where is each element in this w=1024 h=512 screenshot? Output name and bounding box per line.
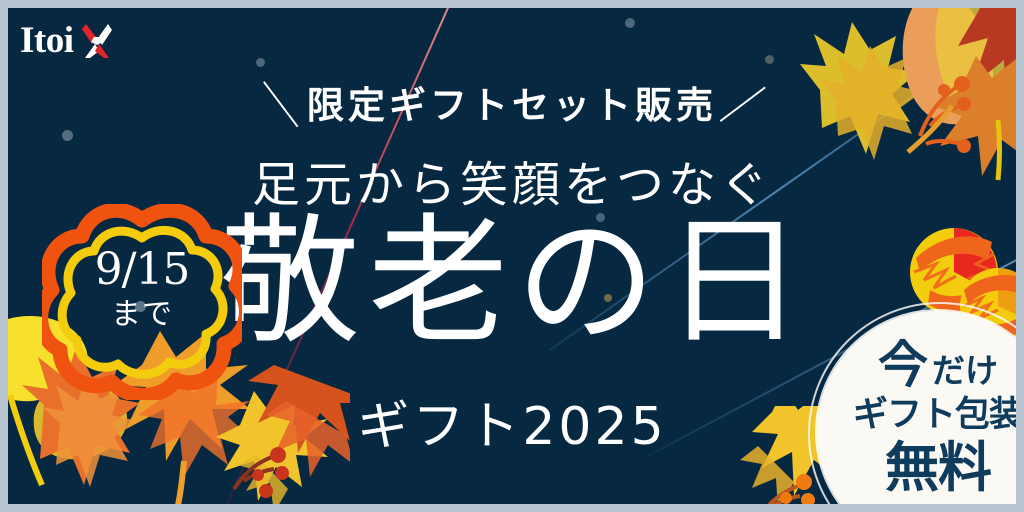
brand-logo[interactable]: Itoi [20,22,112,59]
kicker-line: ＼ 限定ギフトセット販売 ／ [8,70,1016,134]
offer-badge-emphasis: 今 [878,340,928,390]
offer-badge-line-3: 無料 [885,441,991,495]
bokeh-dot [625,18,635,28]
brand-logo-text: Itoi [20,22,74,59]
bokeh-dot [765,55,774,64]
date-badge-text: 9/15 まで [42,248,242,331]
x-mark-icon [82,23,112,59]
bokeh-dot [256,58,265,67]
date-badge-date: 9/15 [42,248,242,292]
promotional-banner: Itoi ＼ 限定ギフトセット販売 ／ 足元から笑顔をつなぐ 敬老の日 ギフト2… [0,0,1024,512]
banner-stage: Itoi ＼ 限定ギフトセット販売 ／ 足元から笑顔をつなぐ 敬老の日 ギフト2… [8,8,1016,504]
offer-badge-line-1: 今 だけ [878,340,998,390]
kicker-slash-left: ＼ [255,67,307,137]
kicker-text: 限定ギフトセット販売 [307,75,717,129]
offer-badge-line1-rest: だけ [932,354,998,387]
date-badge: 9/15 まで [42,204,242,400]
kicker-slash-right: ／ [717,67,769,137]
offer-badge-line-2: ギフト包装 [853,398,1016,433]
date-badge-until: まで [42,298,242,331]
